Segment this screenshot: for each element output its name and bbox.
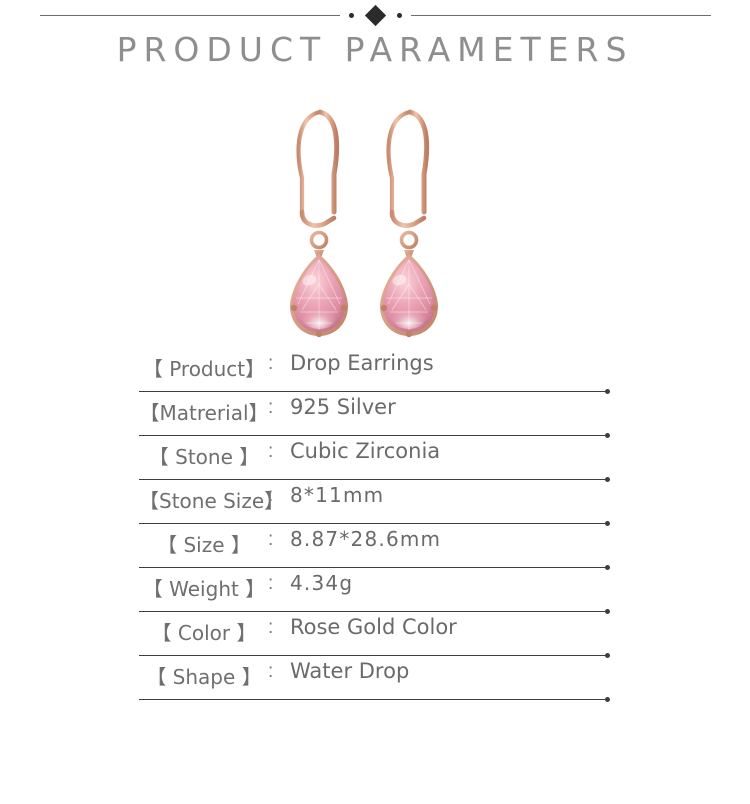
param-value: 8*11mm [290,483,384,507]
table-row: 【Stone Size】 : 8*11mm [0,480,750,524]
page-title: PRODUCT PARAMETERS [0,30,750,69]
param-separator: : [268,661,273,683]
param-label: 【Matrerial】 [139,397,269,426]
drop-earrings-photo [275,108,475,340]
param-value: 925 Silver [290,395,396,419]
param-value: Water Drop [290,659,409,683]
param-value: 8.87*28.6mm [290,527,441,551]
param-separator: : [268,485,273,507]
param-separator: : [268,397,273,419]
table-row: 【 Product】 : Drop Earrings [0,348,750,392]
param-label: 【 Stone 】 [139,441,269,470]
table-row: 【 Shape 】 : Water Drop [0,656,750,700]
dot-ornament-icon [397,13,402,18]
row-divider [139,699,607,700]
table-row: 【Matrerial】 : 925 Silver [0,392,750,436]
param-separator: : [268,529,273,551]
divider-rule-left [40,15,340,16]
param-label: 【 Size 】 [139,529,269,558]
param-value: Rose Gold Color [290,615,457,639]
table-row: 【 Color 】 : Rose Gold Color [0,612,750,656]
param-label: 【 Color 】 [139,617,269,646]
param-separator: : [268,353,273,375]
param-value: 4.34g [290,571,353,595]
diamond-ornament-icon [364,4,385,25]
param-separator: : [268,573,273,595]
dot-ornament-icon [349,13,354,18]
param-separator: : [268,617,273,639]
param-label: 【 Weight 】 [139,573,269,602]
table-row: 【 Weight 】 : 4.34g [0,568,750,612]
product-parameters-table: 【 Product】 : Drop Earrings 【Matrerial】 :… [0,348,750,700]
param-label: 【Stone Size】 [139,485,269,514]
param-separator: : [268,441,273,463]
param-value: Cubic Zirconia [290,439,440,463]
divider-rule-right [411,15,711,16]
param-label: 【 Product】 [139,353,269,382]
table-row: 【 Size 】 : 8.87*28.6mm [0,524,750,568]
param-label: 【 Shape 】 [139,661,269,690]
table-row: 【 Stone 】 : Cubic Zirconia [0,436,750,480]
param-value: Drop Earrings [290,351,434,375]
top-ornamental-divider [0,0,750,30]
